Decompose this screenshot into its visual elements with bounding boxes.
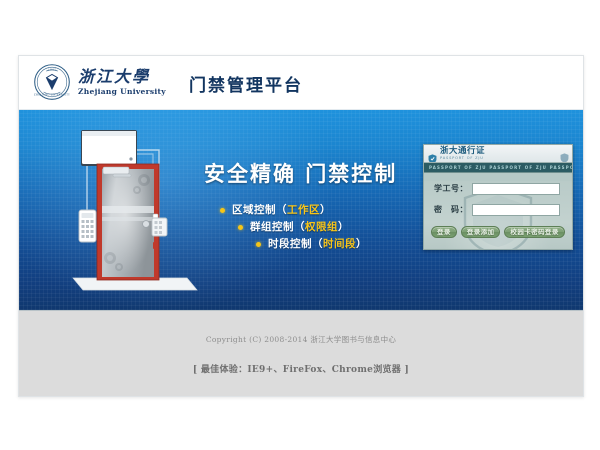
slogan-block: 安全精确 门禁控制 区域控制（工作区） 群组控制（权限组） 时段控制（时间段） xyxy=(204,158,434,253)
passport-watermark-strip: PASSPORT OF ZJU PASSPORT OF ZJU PASSPORT… xyxy=(424,163,572,173)
bullet-dot-icon xyxy=(220,208,225,213)
login-add-button[interactable]: 登录添加 xyxy=(461,226,501,238)
university-name-en: Zhejiang University xyxy=(78,87,166,97)
bullet-dot-icon xyxy=(238,225,243,230)
card-reader-icon xyxy=(152,218,167,236)
feature-suffix: ） xyxy=(338,219,349,236)
form-row-password: 密 码： xyxy=(430,202,572,217)
bullet-dot-icon xyxy=(256,242,261,247)
shield-icon xyxy=(560,148,569,158)
site-header: ZHEJIANG UNIVERSITY 1 8 9 7 浙江大學 Zhejian… xyxy=(19,56,583,110)
login-panel: 浙大通行证 PASSPORT OF ZJU PASSPORT OF ZJU PA… xyxy=(423,144,573,250)
page-title: 门禁管理平台 xyxy=(189,71,303,96)
password-field[interactable] xyxy=(472,204,560,216)
university-name-cn: 浙江大學 xyxy=(78,68,166,86)
feature-highlight: 时间段 xyxy=(323,236,356,253)
page-container: ZHEJIANG UNIVERSITY 1 8 9 7 浙江大學 Zhejian… xyxy=(18,55,584,397)
feature-suffix: ） xyxy=(320,202,331,219)
copyright-text: Copyright (C) 2008-2014 浙江大学图书与信息中心 xyxy=(19,334,583,345)
login-form: 学工号： 密 码： 登录 登录添加 校园卡密码登录 xyxy=(424,181,572,250)
svg-text:1 8 9 7: 1 8 9 7 xyxy=(48,69,56,72)
zju-circular-seal-icon: ZHEJIANG UNIVERSITY 1 8 9 7 xyxy=(33,63,71,101)
login-panel-titlebar: 浙大通行证 PASSPORT OF ZJU xyxy=(424,145,572,163)
browser-recommendation-text: [ 最佳体验：IE9+、FireFox、Chrome浏览器 ] xyxy=(19,362,583,375)
svg-text:ZHEJIANG UNIVERSITY: ZHEJIANG UNIVERSITY xyxy=(34,93,70,96)
campus-card-login-button[interactable]: 校园卡密码登录 xyxy=(504,226,564,238)
feature-item-area-control: 区域控制（工作区） xyxy=(220,202,434,219)
feature-prefix: 时段控制（ xyxy=(268,236,323,253)
feature-prefix: 区域控制（ xyxy=(232,202,287,219)
login-button[interactable]: 登录 xyxy=(431,226,457,238)
controller-box-icon xyxy=(81,130,137,166)
feature-suffix: ） xyxy=(356,236,367,253)
feature-prefix: 群组控制（ xyxy=(250,219,305,236)
student-staff-id-field[interactable] xyxy=(472,183,560,195)
student-staff-id-label: 学工号： xyxy=(430,183,468,194)
keypad-reader-icon xyxy=(79,210,96,242)
feature-item-group-control: 群组控制（权限组） xyxy=(238,219,434,236)
access-control-door-diagram xyxy=(41,118,201,306)
feature-highlight: 工作区 xyxy=(287,202,320,219)
passport-strip-text: PASSPORT OF ZJU PASSPORT OF ZJU PASSPORT… xyxy=(424,165,572,170)
university-logo[interactable]: ZHEJIANG UNIVERSITY 1 8 9 7 浙江大學 Zhejian… xyxy=(33,63,166,101)
login-panel-title-cn: 浙大通行证 xyxy=(440,147,485,156)
feature-item-time-control: 时段控制（时间段） xyxy=(256,236,434,253)
banner-slogan: 安全精确 门禁控制 xyxy=(204,158,434,188)
login-button-row: 登录 登录添加 校园卡密码登录 xyxy=(431,226,572,238)
hero-banner: 安全精确 门禁控制 区域控制（工作区） 群组控制（权限组） 时段控制（时间段） xyxy=(19,110,583,310)
feature-highlight: 权限组 xyxy=(305,219,338,236)
site-footer: Copyright (C) 2008-2014 浙江大学图书与信息中心 [ 最佳… xyxy=(19,310,583,396)
login-panel-title-en: PASSPORT OF ZJU xyxy=(440,156,485,161)
university-name: 浙江大學 Zhejiang University xyxy=(78,63,166,101)
form-row-id: 学工号： xyxy=(430,181,572,196)
shield-icon xyxy=(428,149,437,159)
password-label: 密 码： xyxy=(430,204,468,215)
feature-list: 区域控制（工作区） 群组控制（权限组） 时段控制（时间段） xyxy=(204,202,434,253)
